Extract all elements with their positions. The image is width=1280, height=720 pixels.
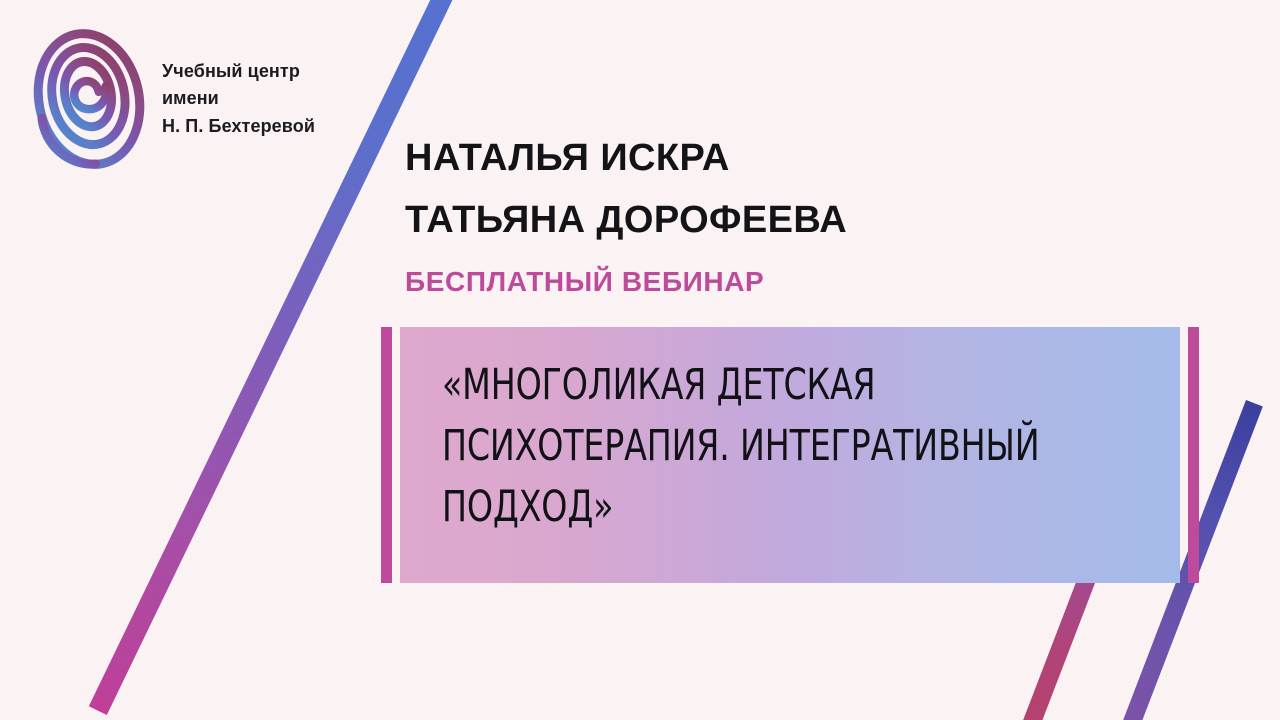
- presenter-names: НАТАЛЬЯ ИСКРА ТАТЬЯНА ДОРОФЕЕВА: [405, 128, 847, 251]
- title-line-2: ПСИХОТЕРАПИЯ. ИНТЕГРАТИВНЫЙ: [442, 416, 1061, 477]
- organization-name: Учебный центр имени Н. П. Бехтеревой: [162, 58, 315, 140]
- presenter-name-2: ТАТЬЯНА ДОРОФЕЕВА: [405, 190, 847, 252]
- organization-logo: Учебный центр имени Н. П. Бехтеревой: [30, 24, 315, 174]
- title-line-3: ПОДХОД»: [442, 477, 1061, 538]
- spiral-labyrinth-logo-icon: [30, 24, 148, 174]
- title-panel-left-bar: [381, 327, 392, 583]
- title-line-1: «МНОГОЛИКАЯ ДЕТСКАЯ: [442, 355, 1061, 416]
- title-panel-right-bar: [1188, 327, 1199, 583]
- title-panel-gradient-background: «МНОГОЛИКАЯ ДЕТСКАЯ ПСИХОТЕРАПИЯ. ИНТЕГР…: [400, 327, 1180, 583]
- webinar-announcement-slide: Учебный центр имени Н. П. Бехтеревой НАТ…: [0, 0, 1280, 720]
- webinar-title: «МНОГОЛИКАЯ ДЕТСКАЯ ПСИХОТЕРАПИЯ. ИНТЕГР…: [442, 355, 1061, 538]
- webinar-title-panel: «МНОГОЛИКАЯ ДЕТСКАЯ ПСИХОТЕРАПИЯ. ИНТЕГР…: [381, 327, 1199, 583]
- logo-line-2: имени: [162, 85, 315, 112]
- logo-line-3: Н. П. Бехтеревой: [162, 113, 315, 140]
- free-webinar-kicker: БЕСПЛАТНЫЙ ВЕБИНАР: [405, 266, 764, 298]
- presenter-name-1: НАТАЛЬЯ ИСКРА: [405, 128, 847, 190]
- logo-line-1: Учебный центр: [162, 58, 315, 85]
